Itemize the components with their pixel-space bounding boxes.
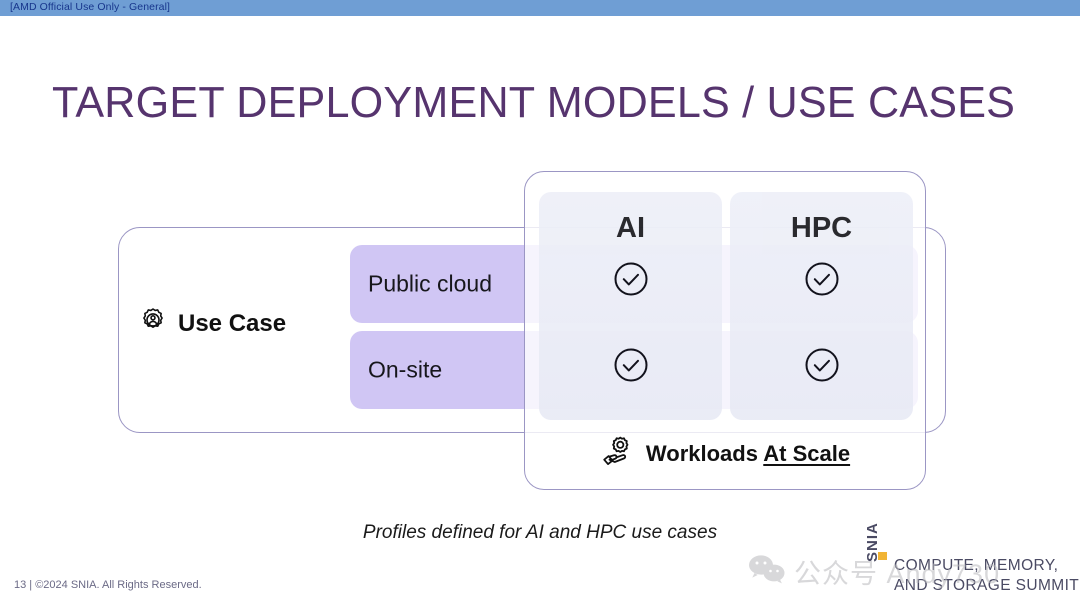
workloads-emphasis: At Scale [763, 441, 850, 466]
cell-on-site-ai [539, 346, 722, 389]
slide-caption: Profiles defined for AI and HPC use case… [0, 522, 1080, 544]
use-case-label: Use Case [178, 310, 286, 338]
use-case-label-group: Use Case [138, 306, 286, 341]
workloads-at-scale-group: Workloads At Scale [525, 434, 925, 473]
check-circle-icon [803, 260, 841, 303]
wechat-icon [748, 554, 786, 589]
ai-hpc-matrix-card: AI HPC [524, 171, 926, 490]
workloads-prefix: Workloads [646, 441, 763, 466]
row-label-on-site: On-site [368, 357, 442, 384]
watermark-text: 公众号 Andy730 [794, 552, 1000, 591]
workloads-label: Workloads At Scale [646, 441, 850, 467]
column-header-ai: AI [539, 212, 722, 245]
cell-public-cloud-ai [539, 260, 722, 303]
check-circle-icon [612, 260, 650, 303]
gear-user-icon [138, 306, 168, 341]
row-label-public-cloud: Public cloud [368, 271, 492, 298]
deployment-matrix-diagram: Public cloud On-site Use Case AI HPC [0, 0, 1080, 608]
check-circle-icon [612, 346, 650, 389]
footer-copyright: 13 | ©2024 SNIA. All Rights Reserved. [14, 579, 202, 591]
wechat-watermark: 公众号 Andy730 [748, 552, 1000, 591]
check-circle-icon [803, 346, 841, 389]
cell-public-cloud-hpc [730, 260, 913, 303]
cell-on-site-hpc [730, 346, 913, 389]
hand-gear-icon [600, 434, 634, 473]
column-header-hpc: HPC [730, 212, 913, 245]
